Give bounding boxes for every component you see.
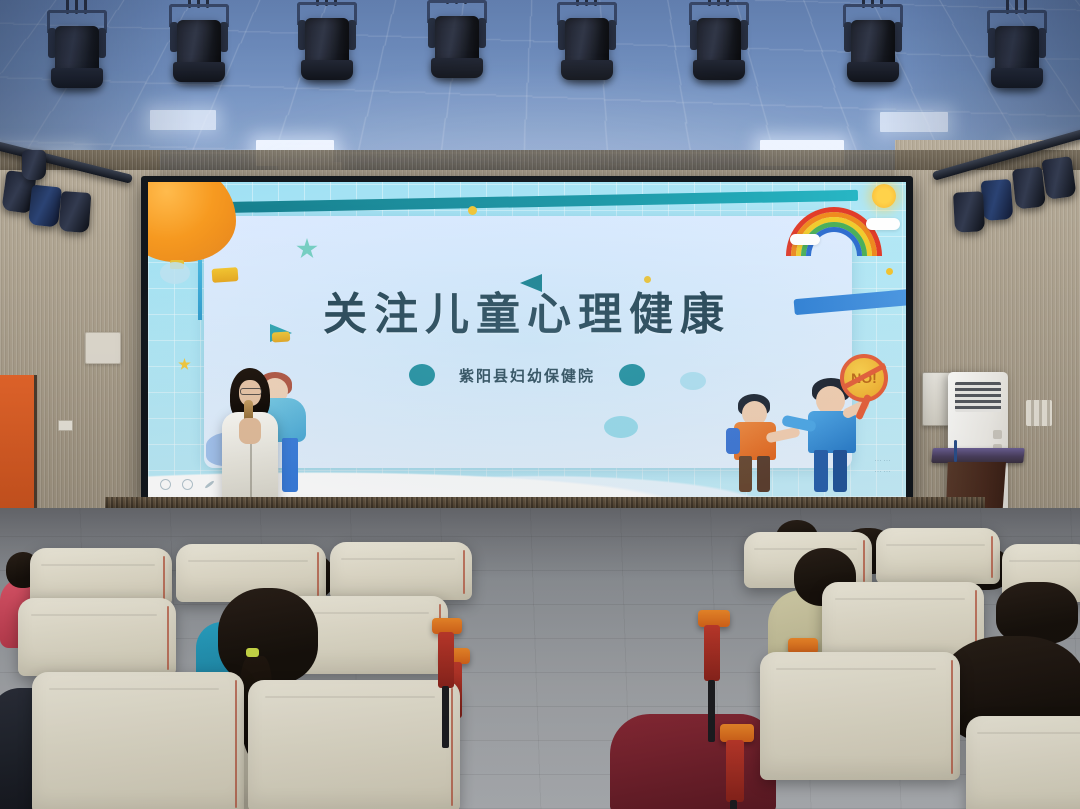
kid-illustration-orange-shirt [726, 394, 790, 492]
cloud-icon [790, 234, 820, 245]
presenter-hands [239, 418, 261, 444]
auditorium-seat[interactable] [760, 652, 960, 780]
lectern-microphone [954, 440, 957, 462]
auditorium-seat[interactable] [32, 672, 244, 809]
person-maroon-jacket [610, 700, 780, 809]
auditorium-seat[interactable] [18, 598, 176, 676]
wall-panel [85, 332, 121, 364]
wall-outlet[interactable] [58, 420, 73, 431]
auditorium-seat-armrest-group[interactable] [700, 602, 708, 606]
ac-indicator [993, 430, 1002, 439]
auditorium-seat[interactable] [248, 680, 460, 809]
side-stage-light [1012, 167, 1046, 210]
auditorium-seat[interactable] [966, 716, 1080, 809]
ac-grille [955, 382, 1001, 412]
sun-icon [872, 184, 896, 208]
blob-icon [604, 416, 638, 438]
side-stage-light [22, 150, 46, 180]
auditorium-seat[interactable] [876, 528, 1000, 584]
no-sign-icon: NO! [840, 354, 888, 402]
blob-icon [160, 262, 190, 284]
pointer-icon[interactable] [160, 479, 171, 490]
blob-icon [680, 372, 706, 390]
slide-subtitle: 紫阳县妇幼保健院 [459, 365, 595, 386]
wall-vent [1026, 400, 1052, 426]
slide-watermark: …… …… [874, 453, 892, 475]
lectern-top [931, 448, 1025, 463]
wall-top-trim [0, 150, 1080, 170]
side-stage-light [28, 185, 62, 228]
auditorium-scene: 关注儿童心理健康 紫阳县妇幼保健院 [0, 0, 1080, 809]
dot-icon [886, 268, 893, 275]
side-stage-light [953, 191, 985, 233]
slide-title: 关注儿童心理健康 [148, 278, 906, 342]
side-stage-light [981, 179, 1014, 221]
teal-dot-icon [619, 364, 645, 386]
auditorium-seat-armrest-group[interactable] [436, 610, 444, 614]
teal-dot-icon [409, 364, 435, 386]
cloud-icon [866, 218, 900, 230]
pen-icon[interactable] [182, 479, 193, 490]
side-stage-light [59, 191, 92, 233]
side-stage-light [1041, 156, 1076, 200]
dot-icon [468, 206, 477, 215]
glasses-icon [240, 388, 262, 395]
